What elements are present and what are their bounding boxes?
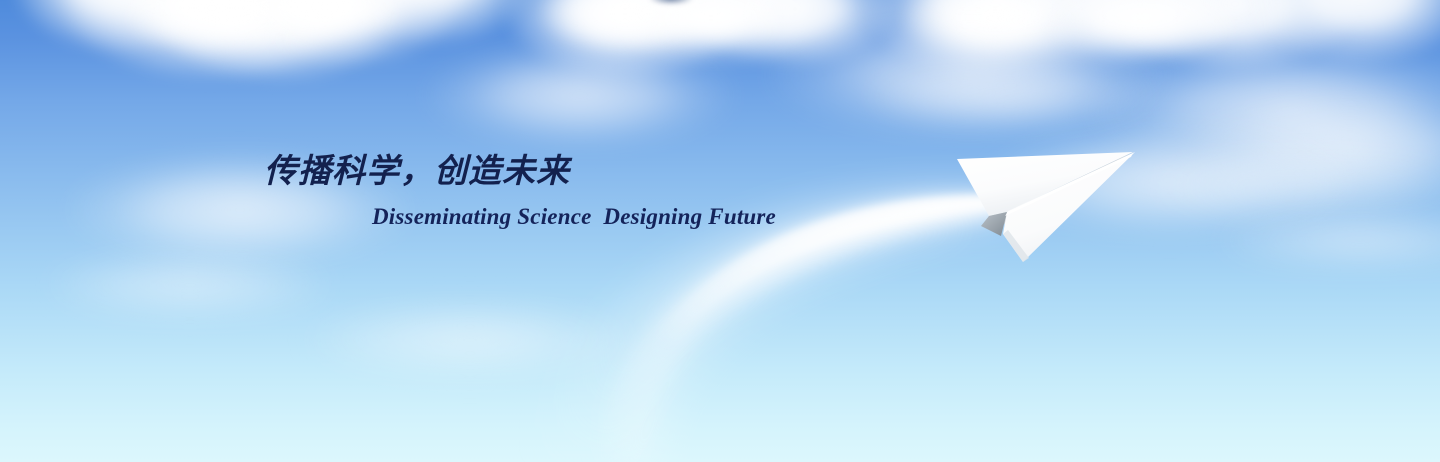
cloud-shape [1110,0,1360,74]
cloud-shape [238,0,468,68]
clipped-mark [648,0,694,5]
cloud-shape [1040,0,1240,60]
haze-cloud [760,10,1180,140]
cloud-shape [8,0,228,54]
cirrus-wisp [1210,210,1440,270]
cloud-shape [1240,0,1440,66]
cloud-shape [596,0,836,68]
cirrus-wisp [40,250,340,320]
cirrus-wisp [860,66,1160,126]
contrail-trail [0,0,1440,462]
haze-cloud [1180,96,1440,206]
paper-plane-icon [945,140,1150,280]
tagline-block: 传播科学，创造未来 Disseminating Science Designin… [264,152,904,231]
cloud-shape [122,0,302,56]
contrail-body [592,197,1006,462]
contrail-glow [540,192,1010,462]
cirrus-wisp [300,300,640,380]
cloud-shape [250,0,400,44]
cloud-shape [500,0,750,80]
sky-banner: 传播科学，创造未来 Disseminating Science Designin… [0,0,1440,462]
haze-cloud [420,40,740,150]
cloud-shape [900,0,1090,62]
cloud-shape [540,0,710,54]
cloud-shape [60,0,360,82]
cloud-shape [980,0,1260,70]
cloud-shape [636,0,786,50]
cloud-shape [690,0,900,68]
cloud-shape [150,0,410,84]
plane-keel [981,212,1007,236]
cloud-shape [860,0,1130,80]
cloud-layer [0,0,1440,462]
contrail-haze [620,222,960,462]
tagline-chinese: 传播科学，创造未来 [264,152,904,191]
cirrus-wisp [1140,150,1440,220]
tagline-english: Disseminating Science Designing Future [264,191,904,231]
cloud-shape [330,0,540,46]
